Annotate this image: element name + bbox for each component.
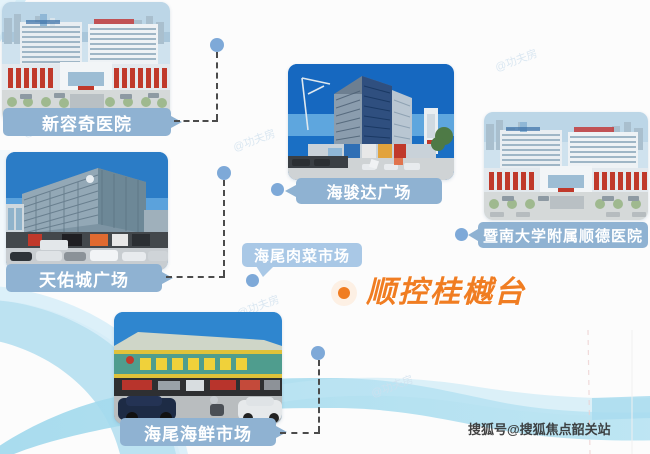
poi-label-text: 海骏达广场	[326, 179, 411, 203]
poi-dot-haijunda-plaza[interactable]	[271, 183, 284, 196]
poi-label-text: 新容奇医院	[42, 110, 132, 135]
glass-office-building-photo	[6, 152, 168, 270]
label-pointer-icon	[256, 266, 274, 277]
main-project-marker[interactable]: 顺控桂樾台	[331, 278, 526, 308]
poi-label-haijunda-plaza[interactable]: 海骏达广场	[296, 178, 442, 204]
poi-card-tianyoucheng-plaza[interactable]	[6, 152, 168, 270]
poi-dot-haiwei-meat-vegetable-market[interactable]	[246, 274, 259, 287]
label-pointer-icon	[162, 272, 173, 284]
connector-line-a-horizontal	[174, 120, 218, 122]
highrise-tower-plaza-photo	[288, 64, 454, 180]
poi-card-jinan-university-shunde-hospital[interactable]	[484, 112, 648, 220]
poi-label-text: 暨南大学附属顺德医院	[483, 225, 643, 246]
source-watermark: 搜狐号@搜狐焦点韶关站	[468, 419, 611, 438]
poi-label-xinrongqi-hospital[interactable]: 新容奇医院	[3, 108, 171, 136]
poi-label-text: 天佑城广场	[39, 266, 129, 291]
map-canvas: @功夫房 @功夫房 @功夫房 @功夫房 @功夫房 @功夫房	[0, 0, 650, 454]
location-dot-icon	[331, 280, 357, 306]
connector-dot-b[interactable]	[217, 166, 231, 180]
connector-line-c-horizontal	[280, 432, 320, 434]
main-project-name: 顺控桂樾台	[366, 278, 526, 308]
label-pointer-icon	[285, 185, 296, 197]
label-pointer-icon	[171, 116, 182, 128]
poi-label-text: 海尾肉菜市场	[254, 245, 350, 266]
poi-dot-jinan-university-shunde-hospital[interactable]	[455, 228, 468, 241]
poi-card-haijunda-plaza[interactable]	[288, 64, 454, 180]
poi-label-jinan-university-shunde-hospital[interactable]: 暨南大学附属顺德医院	[478, 222, 648, 248]
poi-label-text: 海尾海鲜市场	[144, 420, 252, 445]
connector-dot-a[interactable]	[210, 38, 224, 52]
hospital-campus-photo	[484, 112, 648, 220]
poi-card-xinrongqi-hospital[interactable]	[2, 2, 170, 122]
connector-line-a-vertical	[216, 52, 218, 120]
label-pointer-icon	[468, 229, 478, 241]
poi-label-haiwei-seafood-market[interactable]: 海尾海鲜市场	[120, 418, 276, 446]
hospital-aerial-photo	[2, 2, 170, 122]
seafood-market-storefront-photo	[114, 312, 282, 424]
poi-label-haiwei-meat-vegetable-market[interactable]: 海尾肉菜市场	[242, 243, 362, 267]
connector-line-c-vertical	[318, 360, 320, 432]
connector-dot-c[interactable]	[311, 346, 325, 360]
poi-label-tianyoucheng-plaza[interactable]: 天佑城广场	[6, 264, 162, 292]
connector-line-b-horizontal	[166, 276, 225, 278]
poi-card-haiwei-seafood-market[interactable]	[114, 312, 282, 424]
connector-line-b-vertical	[223, 180, 225, 276]
